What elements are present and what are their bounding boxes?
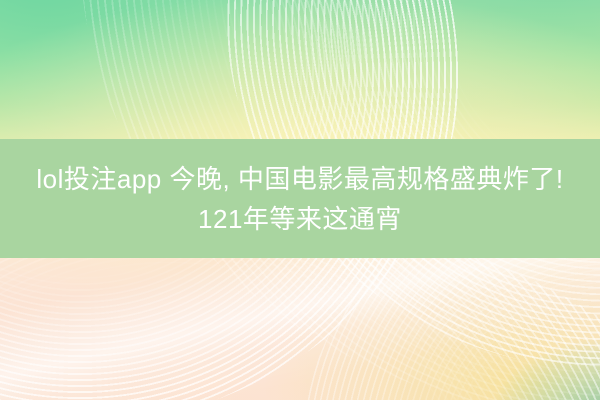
title-line-2: 121年等来这通宵 (198, 199, 402, 239)
promo-banner: lol投注app 今晚, 中国电影最高规格盛典炸了! 121年等来这通宵 (0, 0, 600, 400)
title-line-1: lol投注app 今晚, 中国电影最高规格盛典炸了! (36, 159, 563, 199)
title-band: lol投注app 今晚, 中国电影最高规格盛典炸了! 121年等来这通宵 (0, 139, 600, 258)
